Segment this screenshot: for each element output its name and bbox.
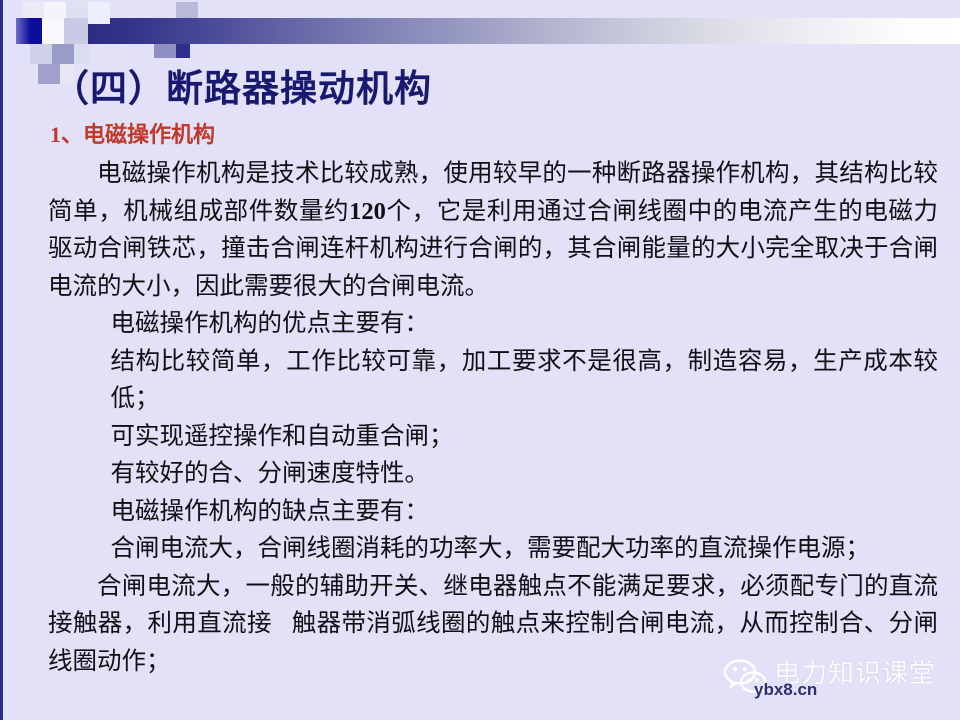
- paragraph-advantages-heading: 电磁操作机构的优点主要有：: [48, 305, 938, 343]
- paragraph-bold-number: 120: [349, 198, 386, 225]
- watermark-url: ybx8.cn: [754, 680, 817, 700]
- paragraph-disadvantages-heading: 电磁操作机构的缺点主要有：: [48, 493, 938, 531]
- page-title: （四）断路器操动机构: [52, 66, 432, 112]
- watermark: 电力知识课堂 ybx8.cn: [722, 652, 952, 712]
- body-text-block: 电磁操作机构是技术比较成熟，使用较早的一种断路器操作机构，其结构比较简单，机械组…: [48, 155, 938, 680]
- left-edge-rule: [0, 0, 3, 720]
- slide-content: （四）断路器操动机构 1、电磁操作机构 电磁操作机构是技术比较成熟，使用较早的一…: [0, 0, 960, 720]
- section-subtitle: 1、电磁操作机构: [50, 120, 215, 150]
- paragraph-advantage-1: 结构比较简单，工作比较可靠，加工要求不是很高，制造容易，生产成本较低；: [48, 343, 938, 418]
- paragraph-intro: 电磁操作机构是技术比较成熟，使用较早的一种断路器操作机构，其结构比较简单，机械组…: [48, 155, 938, 305]
- paragraph-advantage-3: 有较好的合、分闸速度特性。: [48, 455, 938, 493]
- slide-canvas: （四）断路器操动机构 1、电磁操作机构 电磁操作机构是技术比较成熟，使用较早的一…: [0, 0, 960, 720]
- paragraph-disadvantage-1: 合闸电流大，合闸线圈消耗的功率大，需要配大功率的直流操作电源；: [48, 530, 938, 568]
- paragraph-advantage-2: 可实现遥控操作和自动重合闸；: [48, 418, 938, 456]
